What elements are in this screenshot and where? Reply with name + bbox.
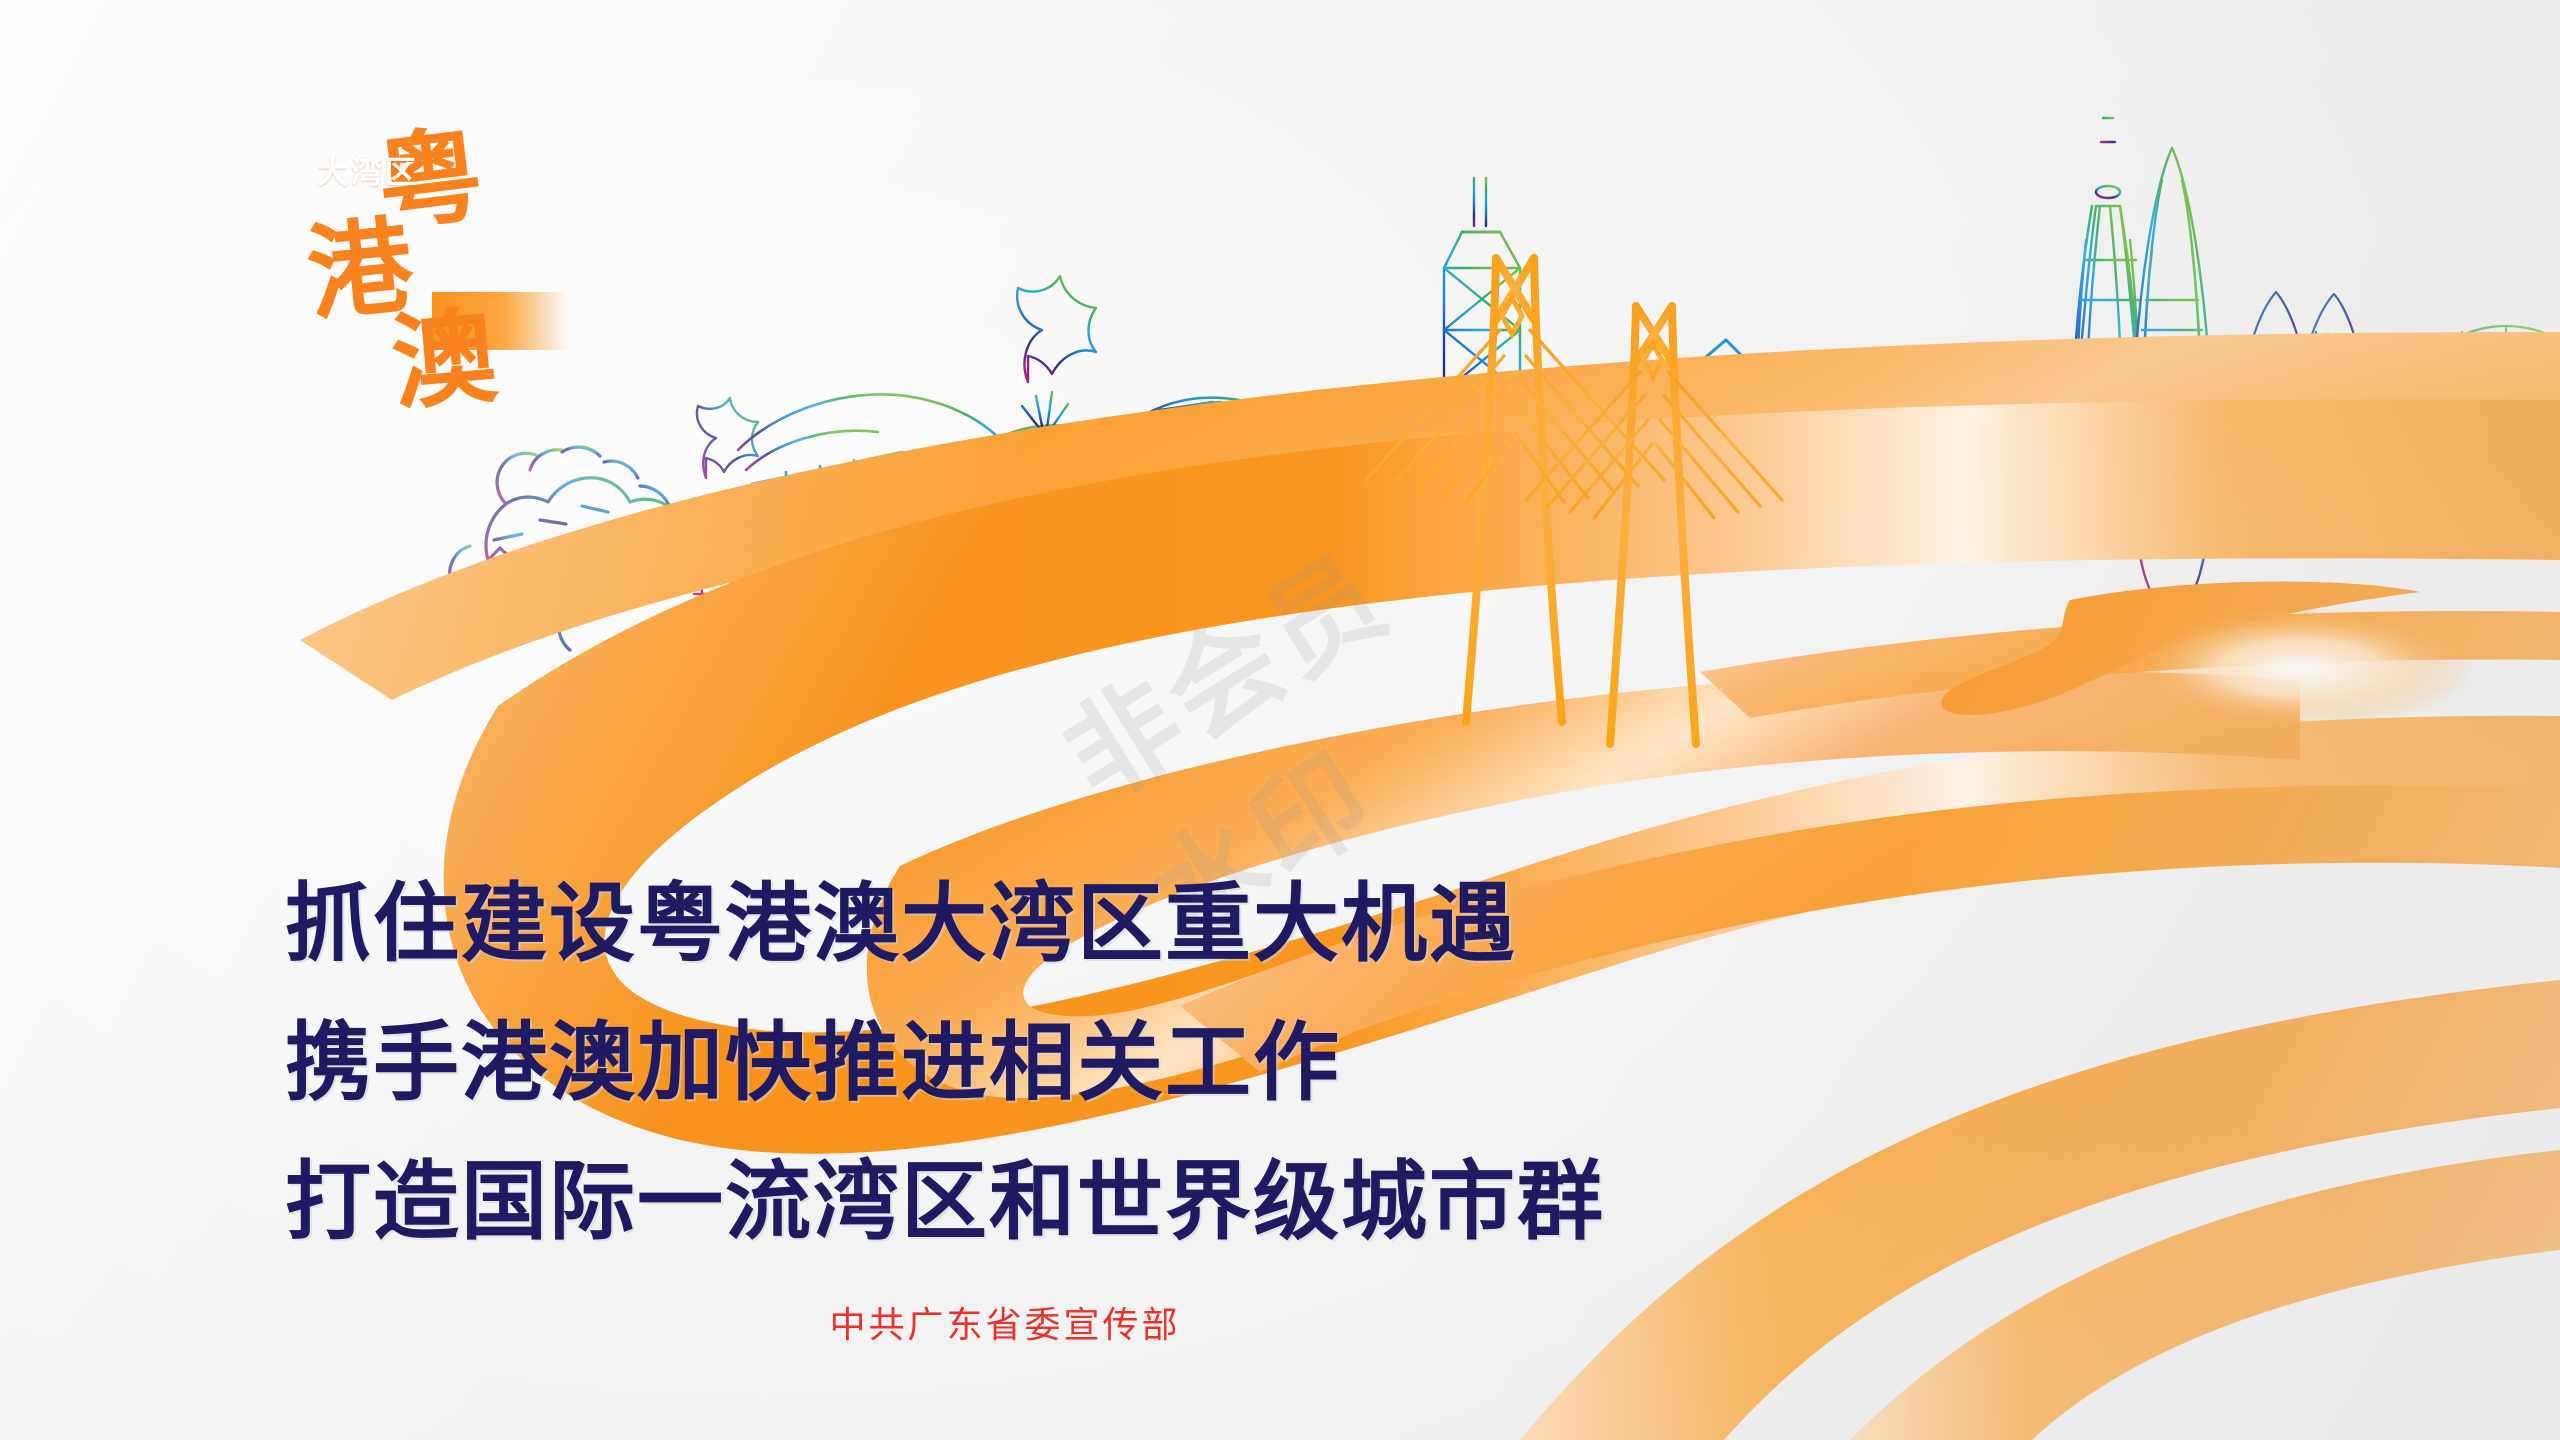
- poster-canvas: 港 澳 粤 大湾区 非会员水印 抓住建设粤港澳大湾区重大机遇 携手港澳加快推进相…: [0, 0, 2560, 1440]
- brand-logo: 港 澳 粤 大湾区: [300, 140, 720, 370]
- logo-char-ao: 澳: [388, 304, 501, 417]
- credit-text: 中共广东省委宣传部: [829, 1296, 1180, 1348]
- headline-line-3: 打造国际一流湾区和世界级城市群: [285, 1133, 1605, 1272]
- credit-line: 中共广东省委宣传部: [0, 1296, 2560, 1348]
- headline-block: 抓住建设粤港澳大湾区重大机遇 携手港澳加快推进相关工作 打造国际一流湾区和世界级…: [285, 855, 1605, 1272]
- ribbon-highlight-glow: [2125, 606, 2475, 730]
- headline-line-2: 携手港澳加快推进相关工作: [285, 994, 1605, 1133]
- logo-badge-text: 大湾区: [300, 140, 436, 198]
- headline-line-1: 抓住建设粤港澳大湾区重大机遇: [285, 855, 1605, 994]
